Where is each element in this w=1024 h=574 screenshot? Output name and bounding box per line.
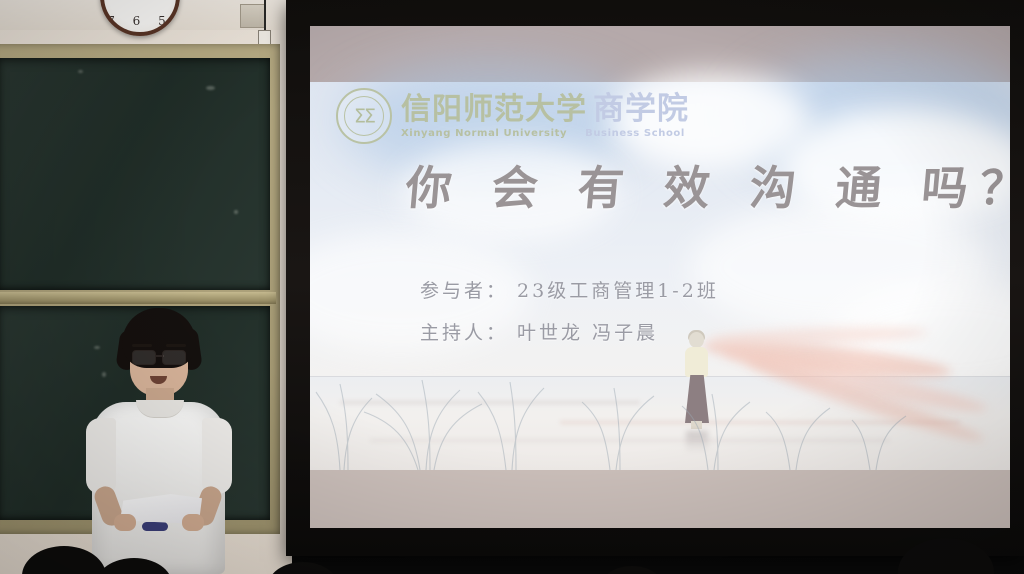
presenter-brow-left bbox=[132, 344, 152, 347]
university-logo: ⵉⵉ 信阳师范大学 商学院 Xinyang Normal University … bbox=[336, 88, 689, 144]
figure-head bbox=[689, 332, 704, 348]
slide-title: 你 会 有 效 沟 通 吗？ bbox=[403, 152, 1010, 218]
projection-screen: ⵉⵉ 信阳师范大学 商学院 Xinyang Normal University … bbox=[286, 0, 1024, 556]
presenter-brow-right bbox=[166, 344, 186, 347]
presenter-hand-right bbox=[182, 514, 204, 531]
classroom-presentation-photo: 7 6 5 bbox=[0, 0, 1024, 574]
logo-english-row: Xinyang Normal University Business Schoo… bbox=[401, 128, 689, 139]
wall-plate bbox=[240, 4, 266, 28]
presenter bbox=[78, 300, 238, 574]
logo-university-cn: 信阳师范大学 bbox=[401, 95, 587, 125]
seal-figures-glyph: ⵉⵉ bbox=[354, 108, 374, 127]
logo-university-en: Xinyang Normal University bbox=[401, 128, 567, 139]
slide-participants-line: 参与者： 23级工商管理1-2班 bbox=[420, 276, 719, 303]
audience-head bbox=[600, 566, 664, 574]
logo-text-block: 信阳师范大学 商学院 Xinyang Normal University Bus… bbox=[401, 94, 689, 139]
logo-school-cn: 商学院 bbox=[593, 94, 689, 125]
logo-school-en: Business School bbox=[585, 128, 685, 139]
presentation-slide: ⵉⵉ 信阳师范大学 商学院 Xinyang Normal University … bbox=[310, 26, 1010, 528]
university-seal-icon: ⵉⵉ bbox=[336, 88, 392, 144]
presenter-sleeve-right bbox=[202, 418, 232, 494]
figure-top bbox=[685, 347, 708, 377]
presenter-sleeve-left bbox=[86, 418, 116, 494]
slide-hosts-line: 主持人： 叶世龙 冯子晨 bbox=[420, 318, 658, 345]
glasses-lens-left bbox=[132, 350, 156, 365]
logo-chinese-row: 信阳师范大学 商学院 bbox=[401, 94, 689, 125]
glasses-lens-right bbox=[162, 350, 186, 365]
blackboard-upper-panel bbox=[0, 58, 270, 290]
slide-bottom-band bbox=[310, 470, 1010, 528]
clock-numerals: 7 6 5 bbox=[104, 14, 176, 28]
reed-grass-illustration bbox=[310, 374, 1010, 470]
presenter-hand-left bbox=[114, 514, 136, 531]
glasses-icon bbox=[131, 350, 187, 363]
